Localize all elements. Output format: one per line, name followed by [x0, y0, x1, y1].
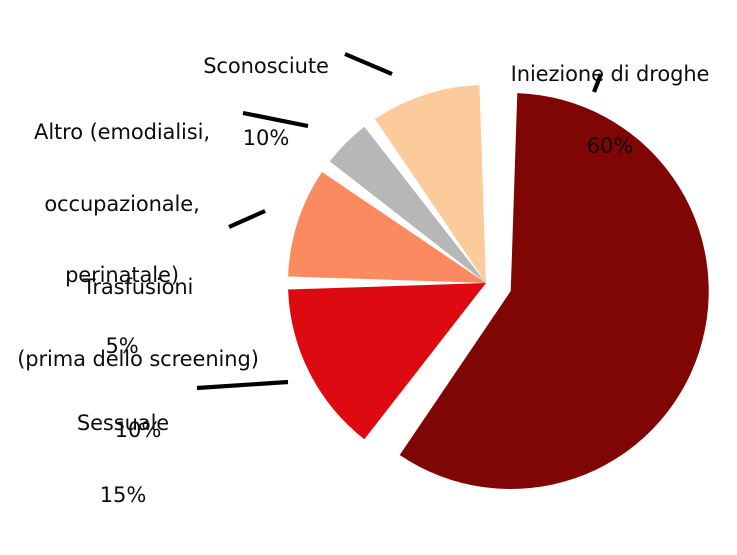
- slice-label-sessuale-name: Sessuale: [50, 412, 196, 436]
- slice-label-sessuale: Sessuale 15%: [50, 365, 196, 555]
- slice-label-altro-name-line1: Altro (emodialisi,: [6, 121, 238, 145]
- slice-label-iniezione-name: Iniezione di droghe: [490, 63, 730, 87]
- slice-label-iniezione-value: 60%: [490, 135, 730, 159]
- slice-label-iniezione: Iniezione di droghe 60%: [490, 16, 730, 206]
- slice-label-sessuale-value: 15%: [50, 484, 196, 508]
- slice-label-altro-name-line2: occupazionale,: [6, 193, 238, 217]
- slice-label-trasfusioni-name-line1: Trasfusioni: [0, 276, 276, 300]
- pie-chart: Sconosciute 10% Iniezione di droghe 60% …: [0, 0, 737, 512]
